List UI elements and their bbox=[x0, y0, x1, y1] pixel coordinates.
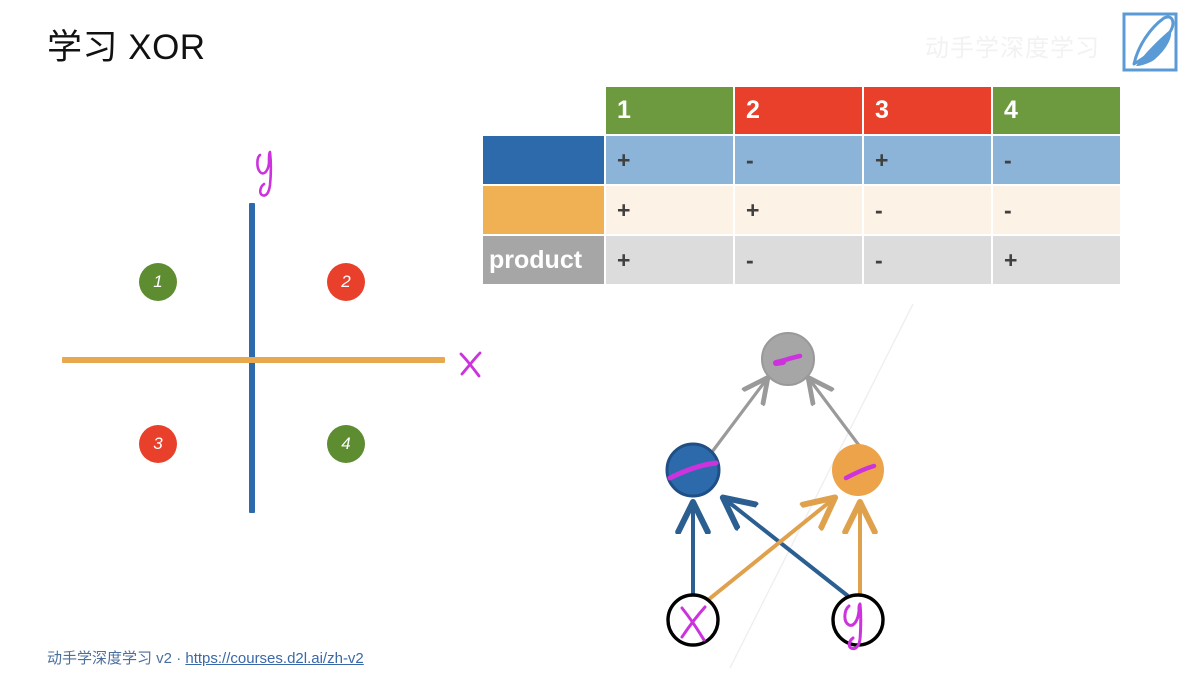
watermark-text: 动手学深度学习 bbox=[925, 28, 1100, 63]
table-row: product + - - + bbox=[483, 236, 1122, 286]
footer-url-link[interactable]: https://courses.d2l.ai/zh-v2 bbox=[185, 650, 363, 667]
table-header-2: 2 bbox=[735, 87, 864, 136]
plot-point-4-label: 4 bbox=[341, 434, 350, 454]
x-axis-label bbox=[453, 342, 493, 387]
y-axis-label bbox=[248, 147, 288, 202]
table-cell-orange-3: - bbox=[864, 186, 993, 236]
edge-y-to-hidden-blue bbox=[726, 500, 848, 596]
table-cell-blue-1: + bbox=[606, 136, 735, 186]
table-row: + + - - bbox=[483, 186, 1122, 236]
page-title: 学习 XOR bbox=[47, 26, 206, 70]
plot-point-1: 1 bbox=[139, 263, 177, 301]
table-cell-blue-3: + bbox=[864, 136, 993, 186]
footer: 动手学深度学习 v2 · https://courses.d2l.ai/zh-v… bbox=[47, 647, 364, 668]
decorative-diagonal-line bbox=[730, 304, 913, 668]
table-row: + - + - bbox=[483, 136, 1122, 186]
table-corner-cell bbox=[483, 87, 606, 136]
table-cell-product-2: - bbox=[735, 236, 864, 286]
input-node-y bbox=[833, 595, 883, 649]
hidden-node-orange bbox=[832, 444, 884, 496]
d2l-logo-icon bbox=[1114, 6, 1184, 76]
plot-point-3: 3 bbox=[139, 425, 177, 463]
table-header-3: 3 bbox=[864, 87, 993, 136]
output-node bbox=[762, 333, 814, 385]
table-header-1: 1 bbox=[606, 87, 735, 136]
x-axis-line bbox=[62, 357, 445, 363]
table-header-row: 1 2 3 4 bbox=[483, 87, 1122, 136]
plot-point-1-label: 1 bbox=[153, 272, 162, 292]
table-cell-orange-2: + bbox=[735, 186, 864, 236]
table-cell-orange-1: + bbox=[606, 186, 735, 236]
slide-root: 学习 XOR 动手学深度学习 1 2 3 4 bbox=[0, 0, 1196, 672]
table-rowlabel-product: product bbox=[483, 236, 606, 286]
table-rowlabel-orange bbox=[483, 186, 606, 236]
input-node-x bbox=[668, 595, 718, 645]
edge-hidden-orange-to-output bbox=[810, 380, 864, 452]
table-cell-blue-4: - bbox=[993, 136, 1122, 186]
plot-point-2-label: 2 bbox=[341, 272, 350, 292]
xor-truth-table: 1 2 3 4 + - + - + + - - product + bbox=[483, 87, 1122, 286]
footer-separator: · bbox=[176, 650, 181, 667]
plot-point-2: 2 bbox=[327, 263, 365, 301]
table-cell-product-3: - bbox=[864, 236, 993, 286]
edge-hidden-blue-to-output bbox=[712, 380, 766, 452]
table-header-4: 4 bbox=[993, 87, 1122, 136]
hidden-node-blue bbox=[667, 444, 719, 496]
table-cell-product-1: + bbox=[606, 236, 735, 286]
table-cell-orange-4: - bbox=[993, 186, 1122, 236]
footer-course-name: 动手学深度学习 v2 bbox=[47, 650, 172, 667]
edge-x-to-hidden-orange bbox=[708, 500, 832, 600]
table-cell-blue-2: - bbox=[735, 136, 864, 186]
table-rowlabel-blue bbox=[483, 136, 606, 186]
plot-point-4: 4 bbox=[327, 425, 365, 463]
xor-quadrant-plot: 1 2 3 4 bbox=[50, 145, 500, 535]
neural-network-diagram bbox=[620, 300, 1020, 672]
table-cell-product-4: + bbox=[993, 236, 1122, 286]
plot-point-3-label: 3 bbox=[153, 434, 162, 454]
